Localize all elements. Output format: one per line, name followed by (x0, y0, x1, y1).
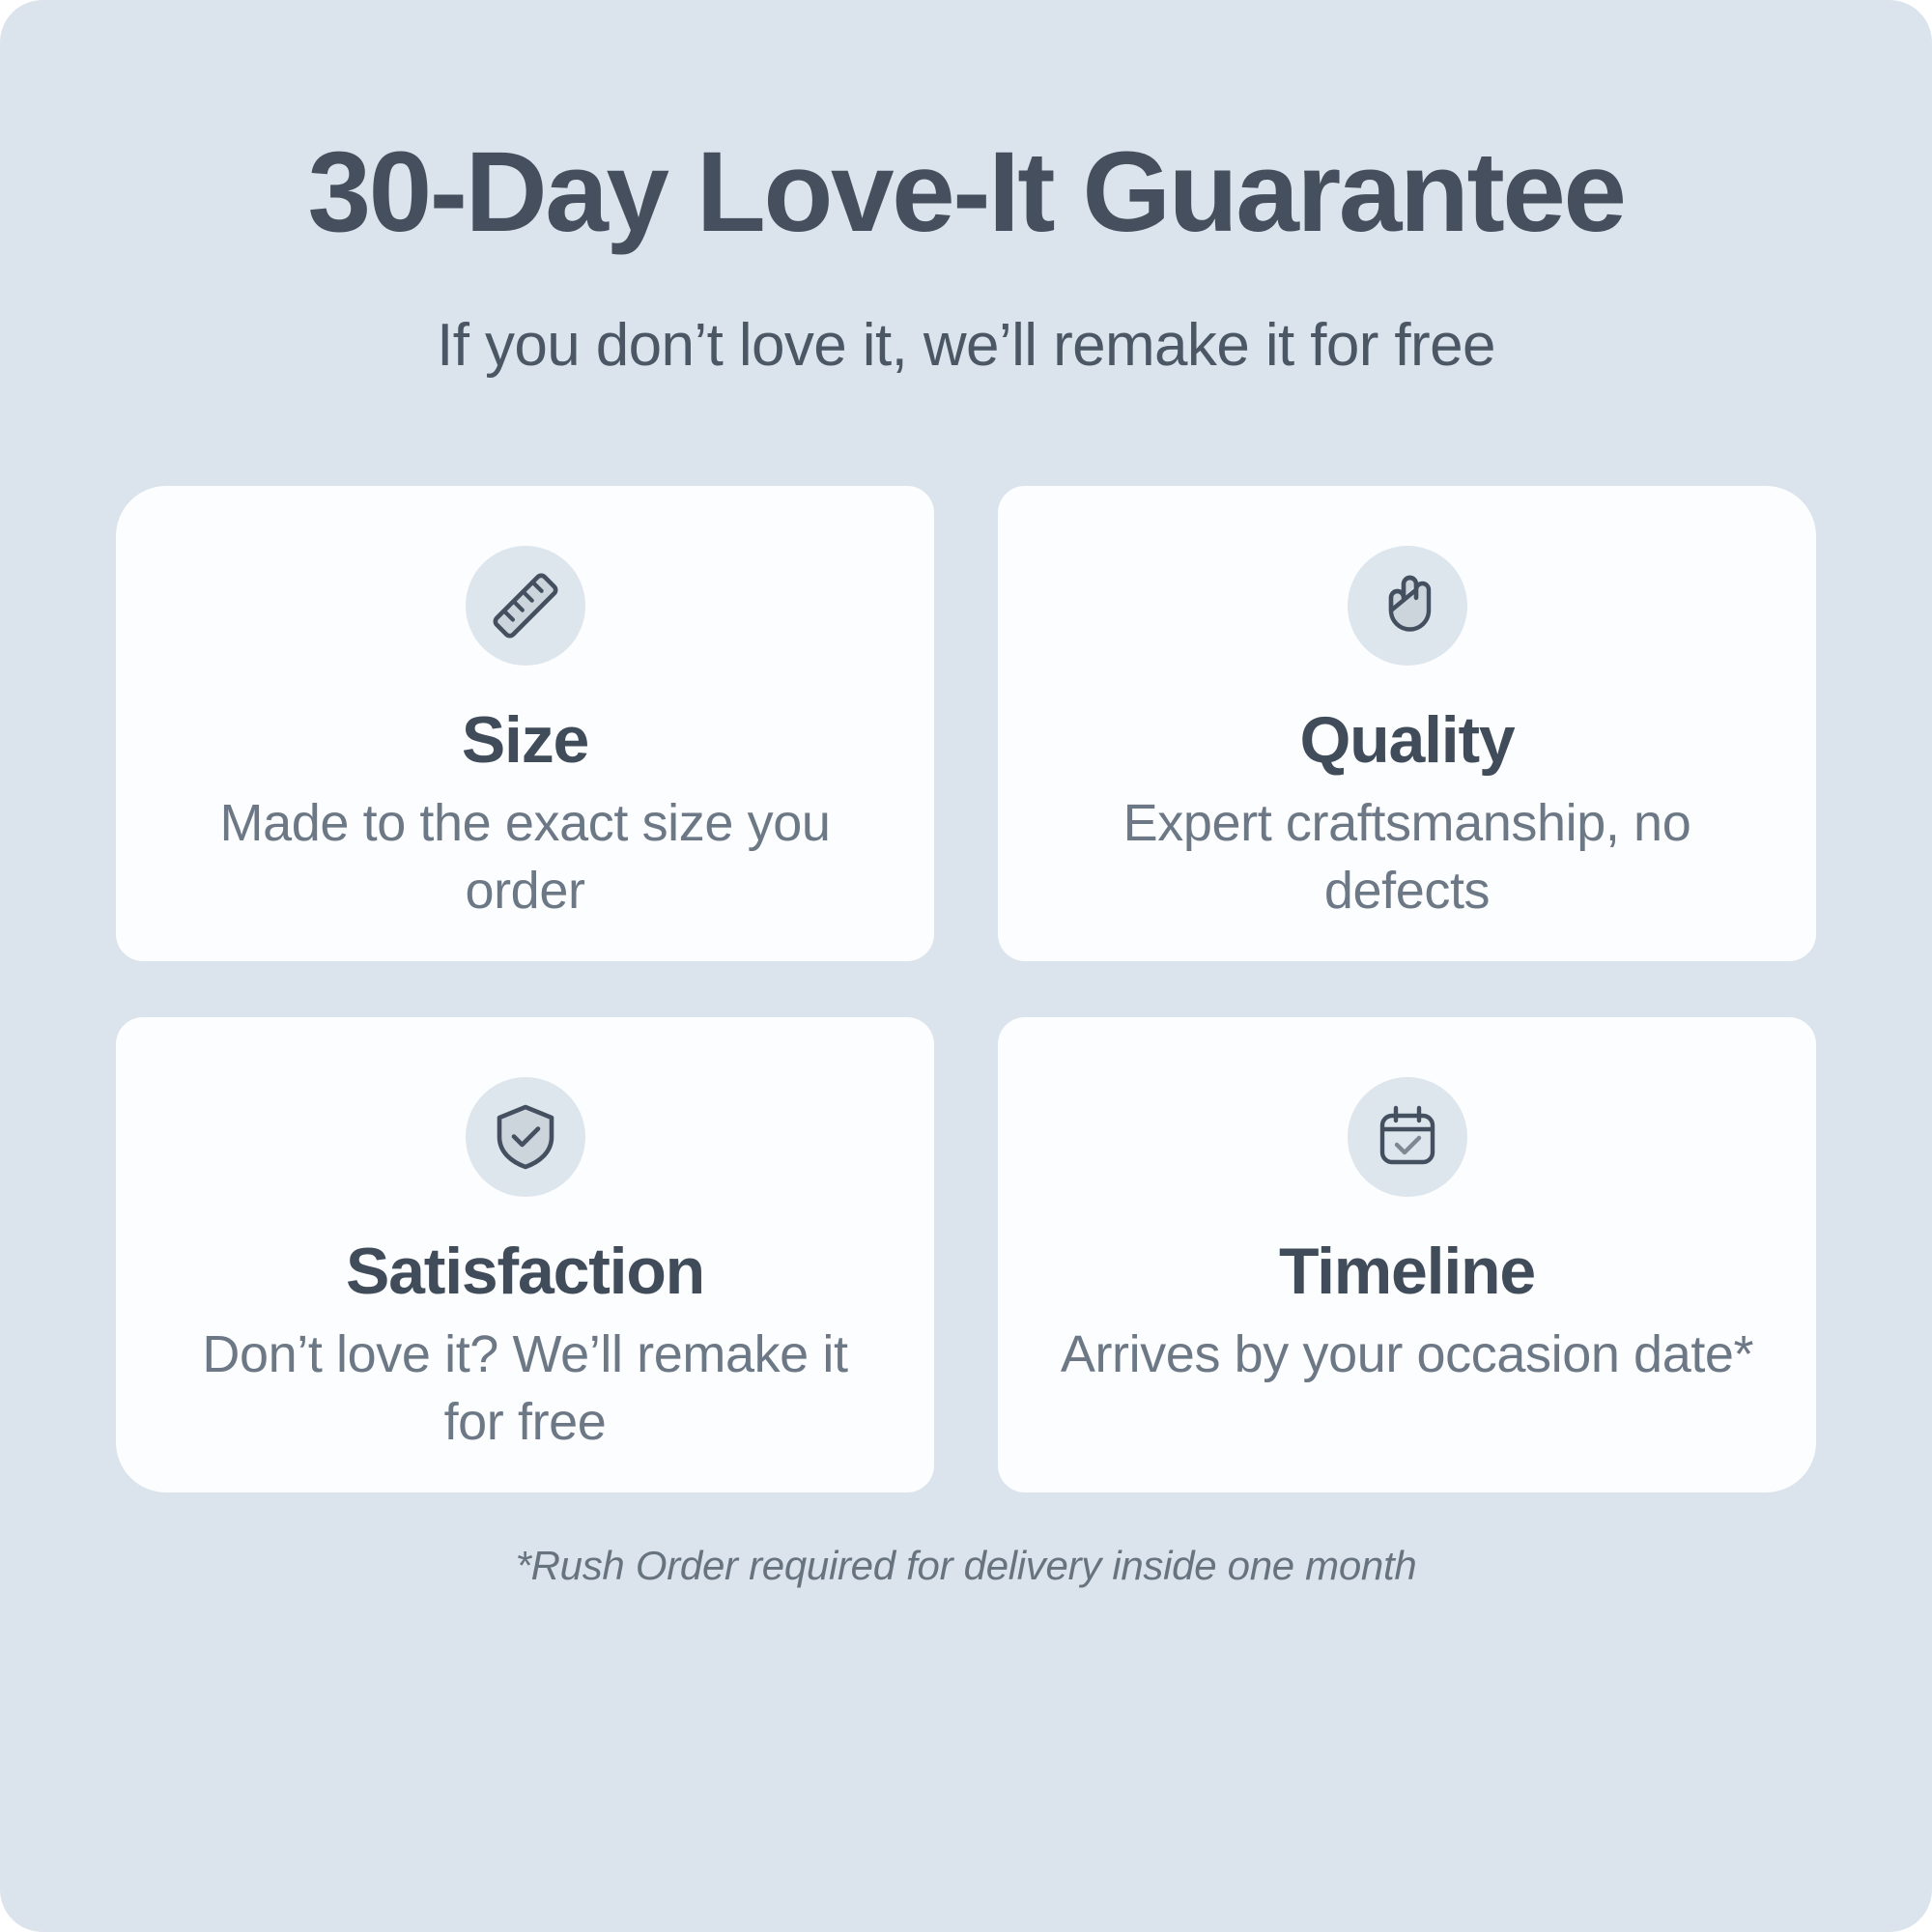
guarantee-card-timeline: Timeline Arrives by your occasion date* (998, 1017, 1816, 1492)
card-title: Timeline (1279, 1237, 1535, 1306)
card-description: Expert craftsmanship, no defects (1060, 790, 1755, 923)
card-description: Arrives by your occasion date* (1061, 1321, 1753, 1388)
shield-check-icon (466, 1077, 585, 1197)
hand-icon (1348, 546, 1467, 666)
footnote: *Rush Order required for delivery inside… (516, 1543, 1417, 1589)
calendar-check-icon (1348, 1077, 1467, 1197)
guarantee-card-satisfaction: Satisfaction Don’t love it? We’ll remake… (116, 1017, 934, 1492)
card-title: Size (462, 706, 588, 775)
page-title: 30-Day Love-It Guarantee (307, 135, 1624, 249)
ruler-icon (466, 546, 585, 666)
guarantee-card-grid: Size Made to the exact size you order Qu… (116, 486, 1816, 1492)
page-subtitle: If you don’t love it, we’ll remake it fo… (437, 311, 1495, 380)
guarantee-panel: 30-Day Love-It Guarantee If you don’t lo… (0, 0, 1932, 1932)
card-description: Made to the exact size you order (178, 790, 873, 923)
card-title: Quality (1299, 706, 1514, 775)
card-title: Satisfaction (346, 1237, 704, 1306)
card-description: Don’t love it? We’ll remake it for free (178, 1321, 873, 1455)
guarantee-card-size: Size Made to the exact size you order (116, 486, 934, 961)
guarantee-card-quality: Quality Expert craftsmanship, no defects (998, 486, 1816, 961)
